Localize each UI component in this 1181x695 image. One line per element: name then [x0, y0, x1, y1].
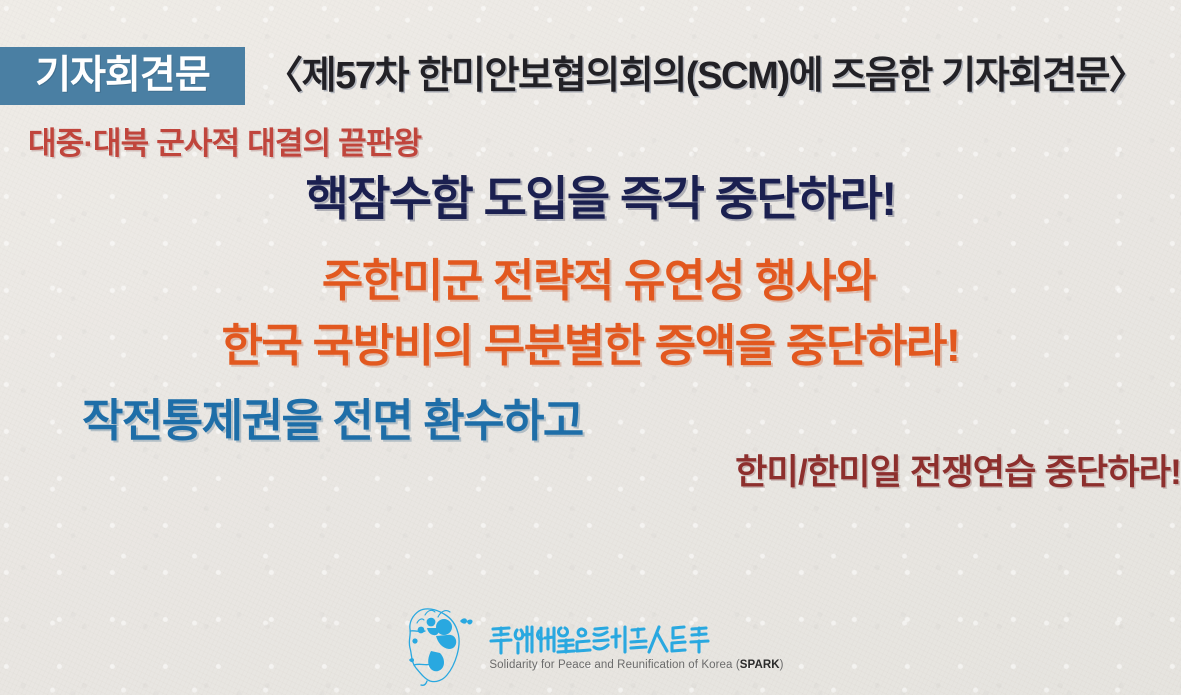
slogan-demand-blue: 작전통제권을 전면 환수하고 [0, 398, 1181, 443]
organization-logo: Solidarity for Peace and Reunification o… [0, 605, 1181, 687]
organization-english-prefix: Solidarity for Peace and Reunification o… [489, 659, 739, 671]
document-type-badge-label: 기자회견문 [35, 56, 209, 95]
slogan-kicker: 대중·대북 군사적 대결의 끝판왕 [0, 128, 1181, 159]
organization-english-name: Solidarity for Peace and Reunification o… [489, 660, 783, 672]
organization-acronym: SPARK [740, 659, 780, 671]
poster-header: 기자회견문 〈제57차 한미안보협의회의(SCM)에 즈음한 기자회견문〉 [0, 47, 1181, 105]
slogan-headline: 핵잠수함 도입을 즉각 중단하라! [0, 175, 1181, 222]
page-title: 〈제57차 한미안보협의회의(SCM)에 즈음한 기자회견문〉 [245, 47, 1181, 105]
slogan-demand-orange-line1: 주한미군 전략적 유연성 행사와 [0, 258, 1181, 303]
slogan-block: 대중·대북 군사적 대결의 끝판왕 핵잠수함 도입을 즉각 중단하라! 주한미군… [0, 128, 1181, 490]
organization-korean-wordmark [489, 621, 721, 657]
press-statement-poster: 기자회견문 〈제57차 한미안보협의회의(SCM)에 즈음한 기자회견문〉 대중… [0, 0, 1181, 695]
document-type-badge: 기자회견문 [0, 47, 245, 105]
slogan-demand-orange-line2: 한국 국방비의 무분별한 증액을 중단하라! [0, 323, 1181, 368]
organization-english-suffix: ) [780, 659, 784, 671]
slogan-demand-maroon: 한미/한미일 전쟁연습 중단하라! [0, 455, 1181, 490]
korea-peninsula-people-icon [397, 605, 481, 687]
